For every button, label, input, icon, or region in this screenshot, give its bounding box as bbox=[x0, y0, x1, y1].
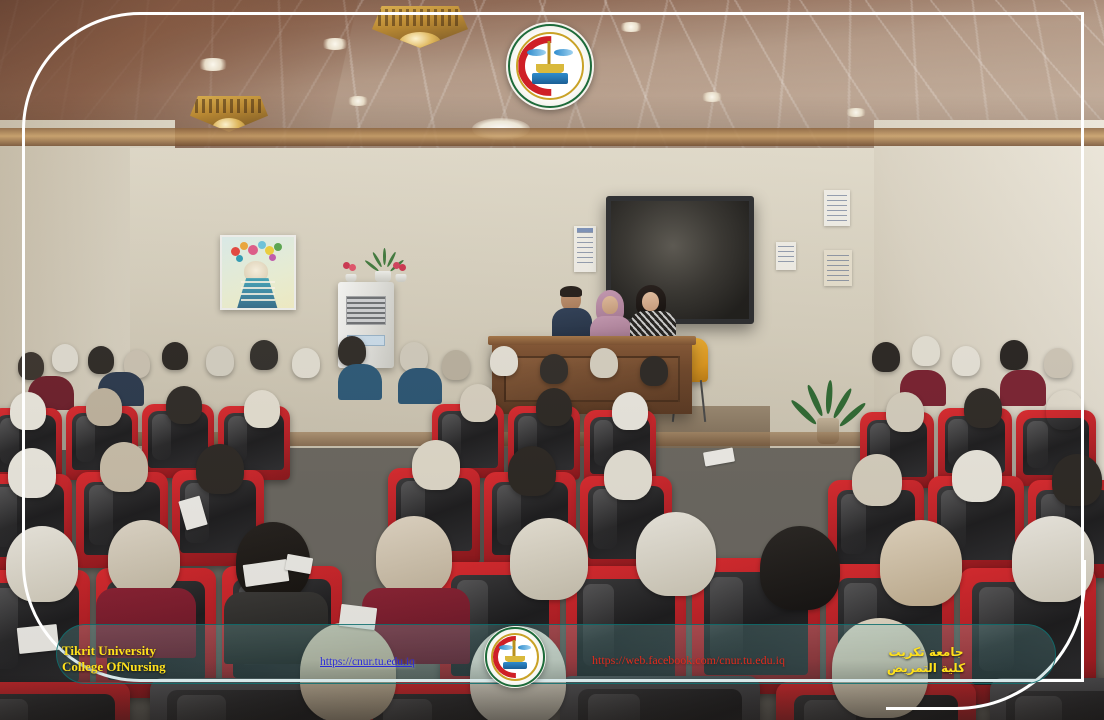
downlight-icon bbox=[320, 38, 350, 50]
audience-head bbox=[196, 444, 244, 494]
audience-head bbox=[1046, 390, 1084, 430]
artwork-ribs bbox=[241, 281, 276, 302]
audience-head bbox=[880, 520, 962, 606]
audience-head bbox=[510, 518, 588, 600]
wall-artwork bbox=[220, 235, 296, 310]
audience-head bbox=[1044, 348, 1072, 378]
wall-poster bbox=[574, 226, 596, 272]
audience-head bbox=[6, 526, 78, 602]
wall-poster bbox=[824, 250, 852, 286]
audience-head bbox=[1052, 454, 1102, 506]
audience-head bbox=[292, 348, 320, 378]
audience-head bbox=[250, 340, 278, 370]
downlight-icon bbox=[700, 92, 724, 102]
downlight-icon bbox=[618, 22, 644, 32]
logo-wing-left-icon bbox=[499, 645, 513, 650]
audience-head bbox=[376, 516, 452, 596]
audience-head bbox=[442, 350, 470, 380]
chandelier-filigree bbox=[378, 9, 462, 26]
audience-head bbox=[490, 346, 518, 376]
brand-line-1: Tikrit University bbox=[62, 643, 292, 658]
flower-vase bbox=[392, 262, 410, 282]
audience-head bbox=[162, 342, 188, 370]
brand-block: Tikrit University College OfNursing bbox=[62, 643, 292, 674]
audience-head bbox=[108, 520, 180, 596]
poster-text-lines bbox=[778, 246, 793, 266]
university-logo-top bbox=[506, 22, 594, 110]
audience-head bbox=[852, 454, 902, 506]
audience-head bbox=[760, 526, 840, 610]
audience-head bbox=[640, 356, 668, 386]
audience-head bbox=[1000, 340, 1028, 370]
cooler-vent bbox=[346, 296, 386, 325]
audience-head bbox=[590, 348, 618, 378]
arabic-line-1: جامعة تكريت bbox=[826, 644, 1026, 660]
chandelier-filigree bbox=[195, 99, 264, 113]
downlight-icon bbox=[196, 58, 230, 71]
university-logo-bottom bbox=[484, 626, 546, 688]
audience-head bbox=[244, 390, 280, 428]
facebook-link[interactable]: https://web.facebook.com/cnur.tu.edu.iq bbox=[592, 653, 785, 668]
flower-vase bbox=[342, 262, 360, 282]
panelist-head bbox=[642, 292, 659, 311]
audience-head bbox=[460, 384, 496, 422]
audience-head bbox=[1012, 516, 1094, 602]
audience-head bbox=[8, 448, 56, 498]
logo-open-book-icon bbox=[503, 662, 528, 669]
audience-head bbox=[912, 336, 940, 366]
audience-head bbox=[100, 442, 148, 492]
wall-poster bbox=[824, 190, 850, 226]
audience-head bbox=[338, 336, 366, 366]
audience-head bbox=[412, 440, 460, 490]
panelist-head bbox=[602, 296, 618, 314]
audience-head bbox=[636, 512, 716, 596]
plant-pot bbox=[346, 274, 357, 282]
audience-head bbox=[206, 346, 234, 376]
downlight-icon bbox=[844, 108, 868, 117]
audience-head bbox=[166, 386, 202, 424]
audience-shoulders bbox=[398, 368, 442, 404]
audience-head bbox=[964, 388, 1002, 428]
website-link[interactable]: https://cnur.tu.edu.iq bbox=[320, 656, 415, 668]
audience-head bbox=[540, 354, 568, 384]
audience-shoulders bbox=[338, 364, 382, 400]
audience-head bbox=[52, 344, 78, 372]
audience-head bbox=[536, 388, 572, 426]
audience-head bbox=[86, 388, 122, 426]
downlight-icon bbox=[346, 96, 370, 106]
poster-text-lines bbox=[827, 255, 848, 281]
audience-head bbox=[88, 346, 114, 374]
plant-pot bbox=[375, 271, 391, 282]
notebook-paper bbox=[17, 624, 59, 654]
screenshot-canvas: Tikrit University College OfNursing http… bbox=[0, 0, 1104, 720]
audience-head bbox=[612, 392, 648, 430]
audience-head bbox=[508, 446, 556, 496]
poster-text-lines bbox=[577, 232, 594, 265]
ceiling-cornice bbox=[0, 128, 1104, 146]
poster-header bbox=[577, 228, 594, 232]
arabic-brand-block: جامعة تكريت كلية التمريض bbox=[826, 644, 1026, 676]
audience-head bbox=[604, 450, 652, 500]
audience-shoulders bbox=[1000, 370, 1046, 406]
plant-pot bbox=[396, 274, 407, 282]
audience-head bbox=[952, 450, 1002, 502]
notebook-paper bbox=[703, 448, 735, 467]
audience-head bbox=[872, 342, 900, 372]
audience-head bbox=[886, 392, 924, 432]
wall-poster bbox=[776, 242, 796, 270]
brand-line-2: College OfNursing bbox=[62, 659, 292, 674]
audience-head bbox=[10, 392, 46, 430]
poster-text-lines bbox=[827, 195, 847, 221]
logo-open-book-icon bbox=[532, 73, 567, 84]
arabic-line-2: كلية التمريض bbox=[826, 660, 1026, 676]
audience-head bbox=[952, 346, 980, 376]
